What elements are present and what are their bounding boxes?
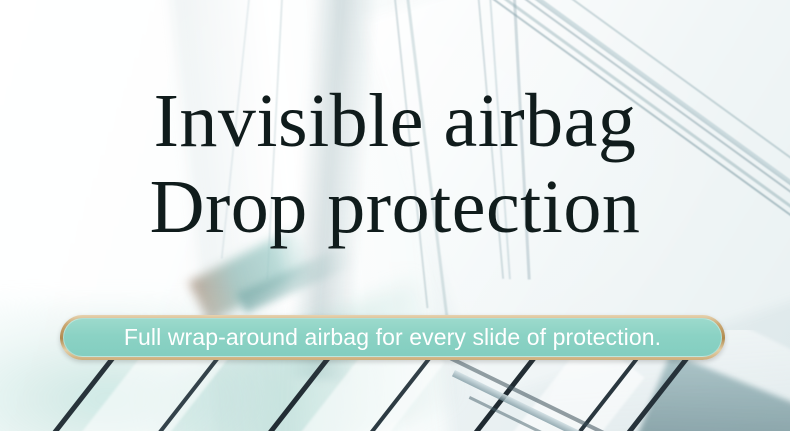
subtitle-text: Full wrap-around airbag for every slide … [124, 324, 661, 351]
subtitle-pill: Full wrap-around airbag for every slide … [60, 315, 725, 360]
headline: Invisible airbag Drop protection [0, 78, 790, 250]
subtitle-pill-inner: Full wrap-around airbag for every slide … [63, 318, 722, 357]
product-feature-banner: Invisible airbag Drop protection Full wr… [0, 0, 790, 431]
headline-line-1: Invisible airbag [154, 79, 637, 163]
headline-line-2: Drop protection [0, 164, 790, 250]
banner-content: Invisible airbag Drop protection Full wr… [0, 0, 790, 431]
